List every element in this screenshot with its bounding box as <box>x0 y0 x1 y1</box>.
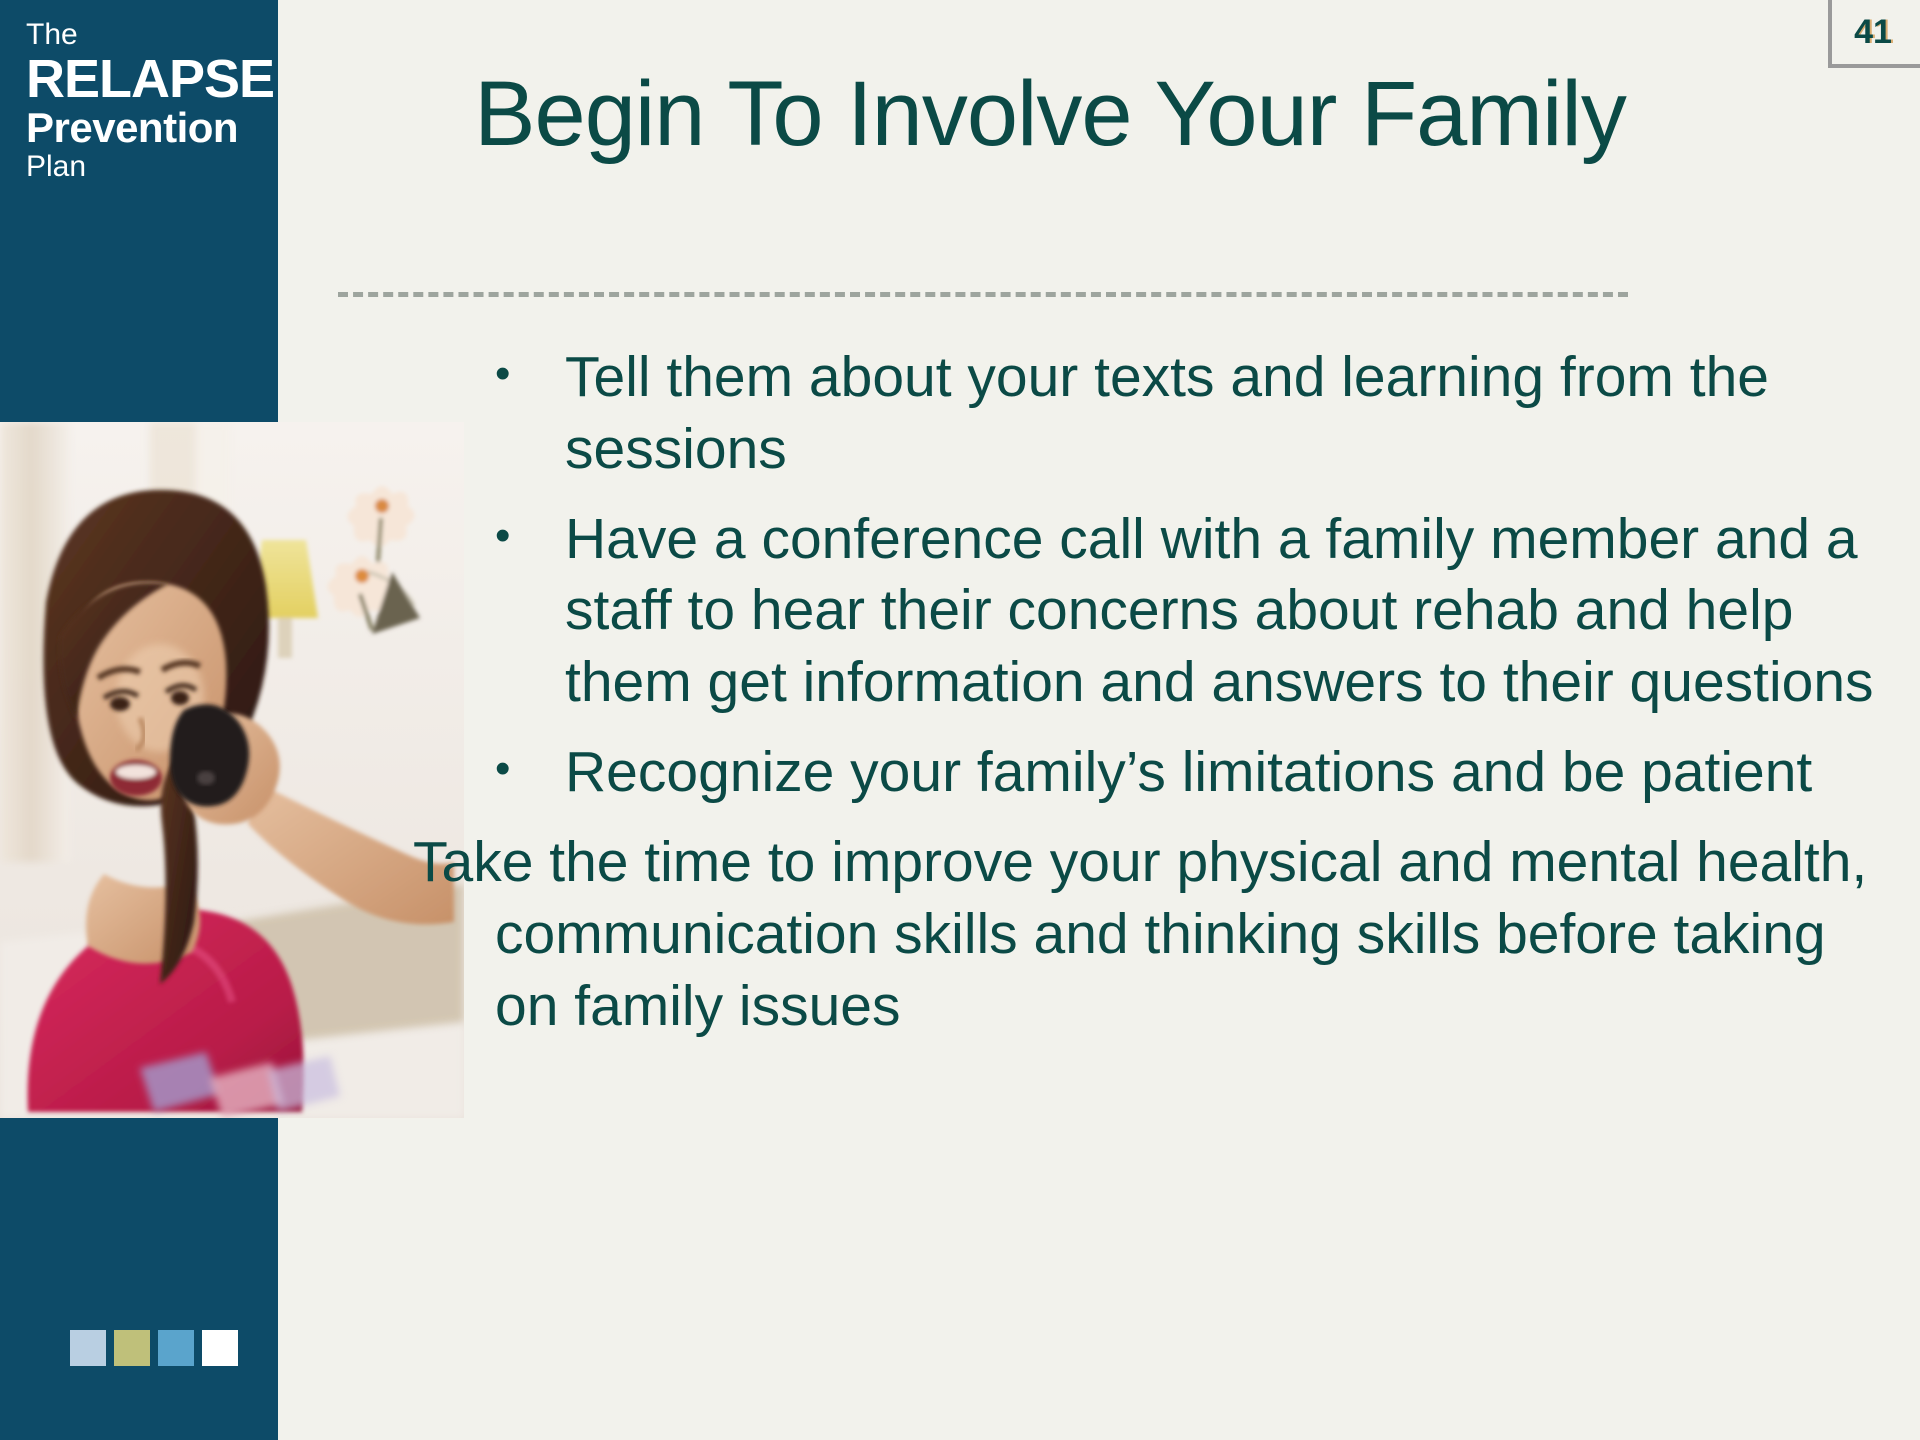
brand-rail-top: The RELAPSE Prevention Plan <box>0 0 278 422</box>
bullet-text: Have a conference call with a family mem… <box>565 504 1895 719</box>
swatch-white <box>202 1330 238 1366</box>
closing-paragraph: Take the time to improve your physical a… <box>413 827 1895 1042</box>
bullet-item: • Tell them about your texts and learnin… <box>495 342 1895 486</box>
slide-number: 41 <box>1854 13 1892 52</box>
logo-line-relapse: RELAPSE <box>26 52 261 106</box>
bullet-item: • Recognize your family’s limitations an… <box>495 737 1895 809</box>
bullet-text: Recognize your family’s limitations and … <box>565 737 1895 809</box>
swatch-strip <box>70 1330 238 1366</box>
bullet-item: • Have a conference call with a family m… <box>495 504 1895 719</box>
closing-paragraph-text: Take the time to improve your physical a… <box>495 827 1895 1042</box>
photo-illustration <box>0 422 464 1118</box>
swatch-olive <box>114 1330 150 1366</box>
brand-logo: The RELAPSE Prevention Plan <box>26 20 261 182</box>
photo-woman-on-phone <box>0 422 464 1118</box>
bullet-dot-icon: • <box>495 737 565 801</box>
bullet-dot-icon: • <box>495 342 565 406</box>
logo-line-plan: Plan <box>26 152 261 182</box>
slide-number-badge: 41 <box>1828 0 1920 68</box>
title-divider <box>338 292 1628 297</box>
logo-line-prevention: Prevention <box>26 107 261 149</box>
slide: The RELAPSE Prevention Plan <box>0 0 1920 1440</box>
bullet-text: Tell them about your texts and learning … <box>565 342 1895 486</box>
slide-body: • Tell them about your texts and learnin… <box>495 342 1895 1042</box>
brand-rail-bottom <box>0 1118 278 1440</box>
swatch-light-blue <box>70 1330 106 1366</box>
swatch-blue <box>158 1330 194 1366</box>
page-title: Begin To Involve Your Family <box>340 66 1760 163</box>
bullet-dot-icon: • <box>495 504 565 568</box>
logo-line-the: The <box>26 20 261 50</box>
